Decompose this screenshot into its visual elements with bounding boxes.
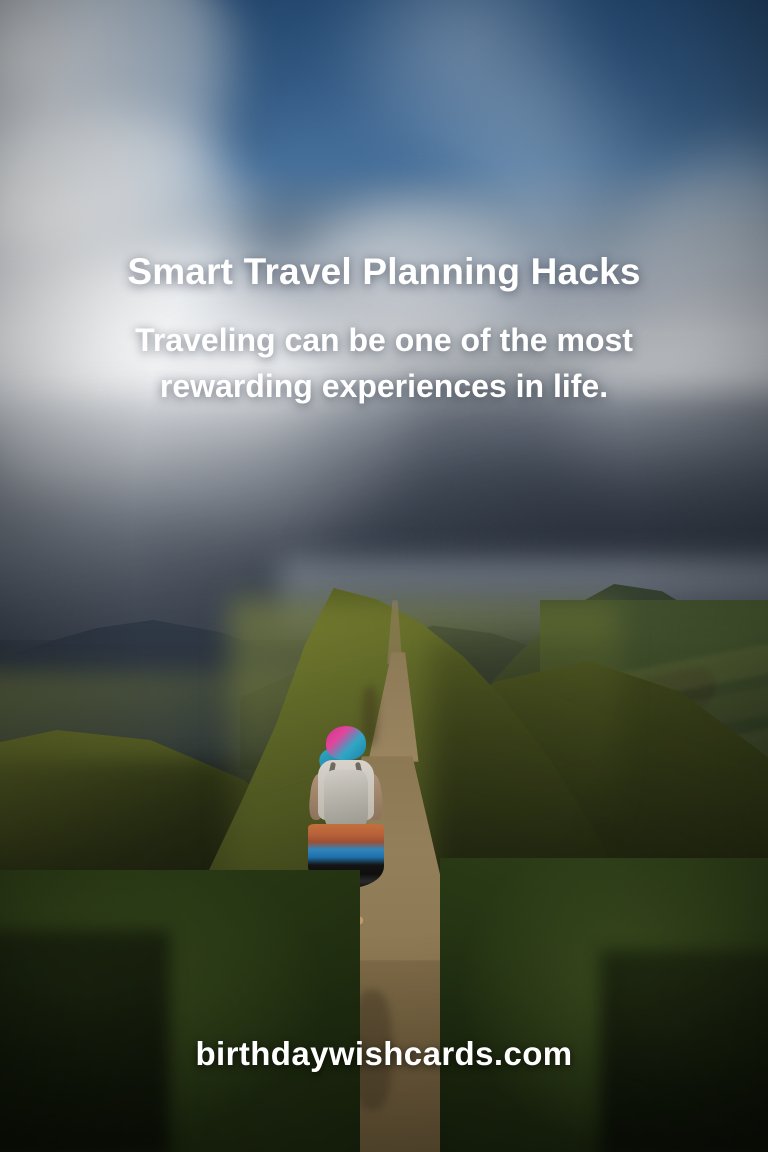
card-subtitle: Traveling can be one of the most rewardi…: [0, 318, 768, 409]
travel-quote-card: Smart Travel Planning Hacks Traveling ca…: [0, 0, 768, 1152]
card-title: Smart Travel Planning Hacks: [0, 250, 768, 294]
hiker-backpack: [324, 770, 368, 832]
hiker-headscarf: [326, 726, 366, 760]
text-overlay: Smart Travel Planning Hacks Traveling ca…: [0, 250, 768, 409]
site-watermark: birthdaywishcards.com: [0, 1035, 768, 1073]
